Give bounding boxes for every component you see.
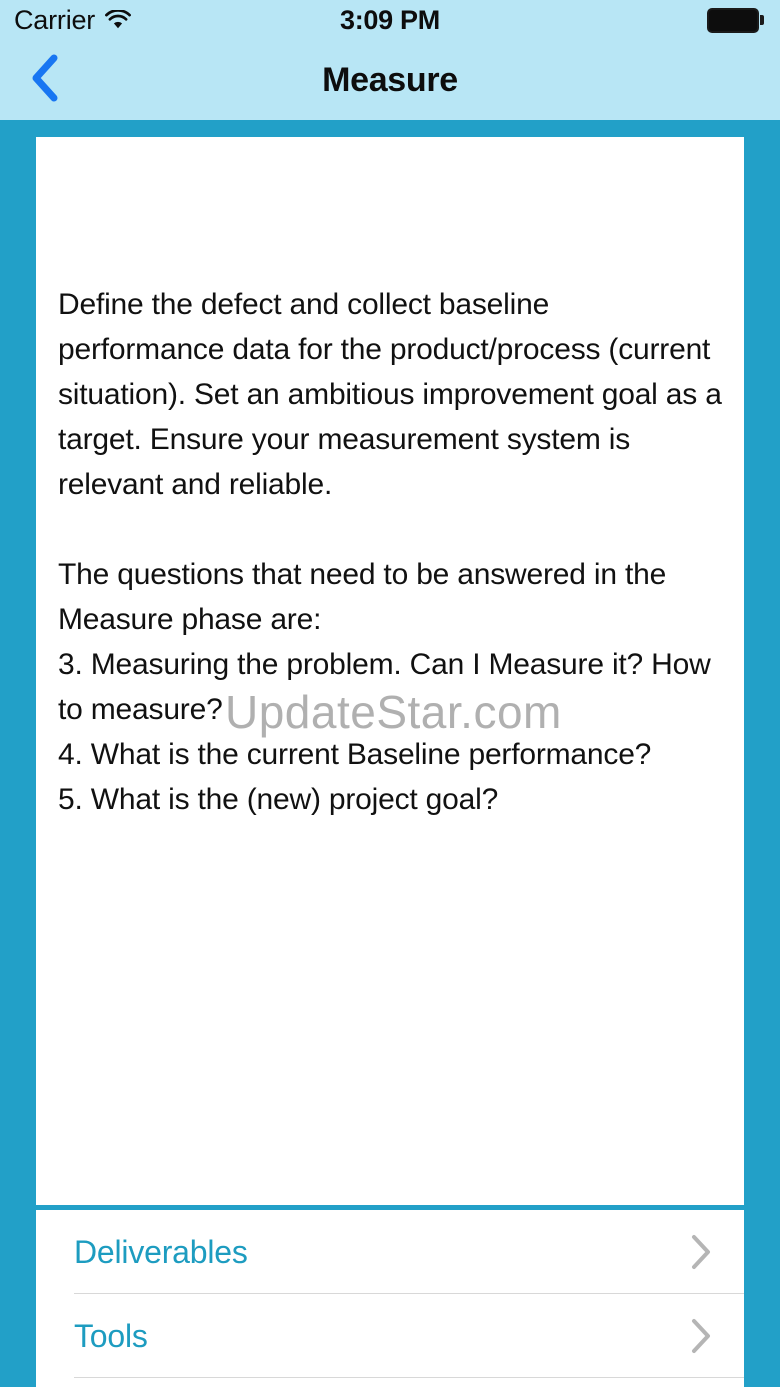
description-card: Define the defect and collect baseline p… [36, 137, 744, 1205]
back-button[interactable] [18, 52, 70, 108]
paragraph-questions-intro: The questions that need to be answered i… [58, 552, 722, 642]
paragraph-definition: Define the defect and collect baseline p… [58, 282, 722, 507]
navigation-bar: Measure [0, 40, 780, 120]
chevron-right-icon [688, 1317, 714, 1355]
chevron-left-icon [29, 54, 59, 107]
chevron-right-icon [688, 1233, 714, 1271]
description-text-block: Define the defect and collect baseline p… [58, 282, 722, 822]
question-item-4: 4. What is the current Baseline performa… [58, 732, 722, 777]
status-bar: Carrier 3:09 PM [0, 0, 780, 40]
links-list-card: Deliverables Tools [36, 1210, 744, 1387]
list-item-tools[interactable]: Tools [36, 1294, 744, 1378]
list-item-deliverables[interactable]: Deliverables [36, 1210, 744, 1294]
status-bar-time: 3:09 PM [0, 5, 780, 36]
question-item-3: 3. Measuring the problem. Can I Measure … [58, 642, 722, 732]
question-item-5: 5. What is the (new) project goal? [58, 777, 722, 822]
battery-full-icon [707, 8, 764, 33]
app-screen: Carrier 3:09 PM Measure [0, 0, 780, 1387]
row-divider [74, 1377, 744, 1378]
paragraph-spacer [58, 507, 722, 552]
page-title: Measure [322, 61, 458, 100]
list-item-label: Tools [74, 1318, 148, 1355]
list-item-label: Deliverables [74, 1234, 248, 1271]
content-area: Define the defect and collect baseline p… [0, 120, 780, 1387]
